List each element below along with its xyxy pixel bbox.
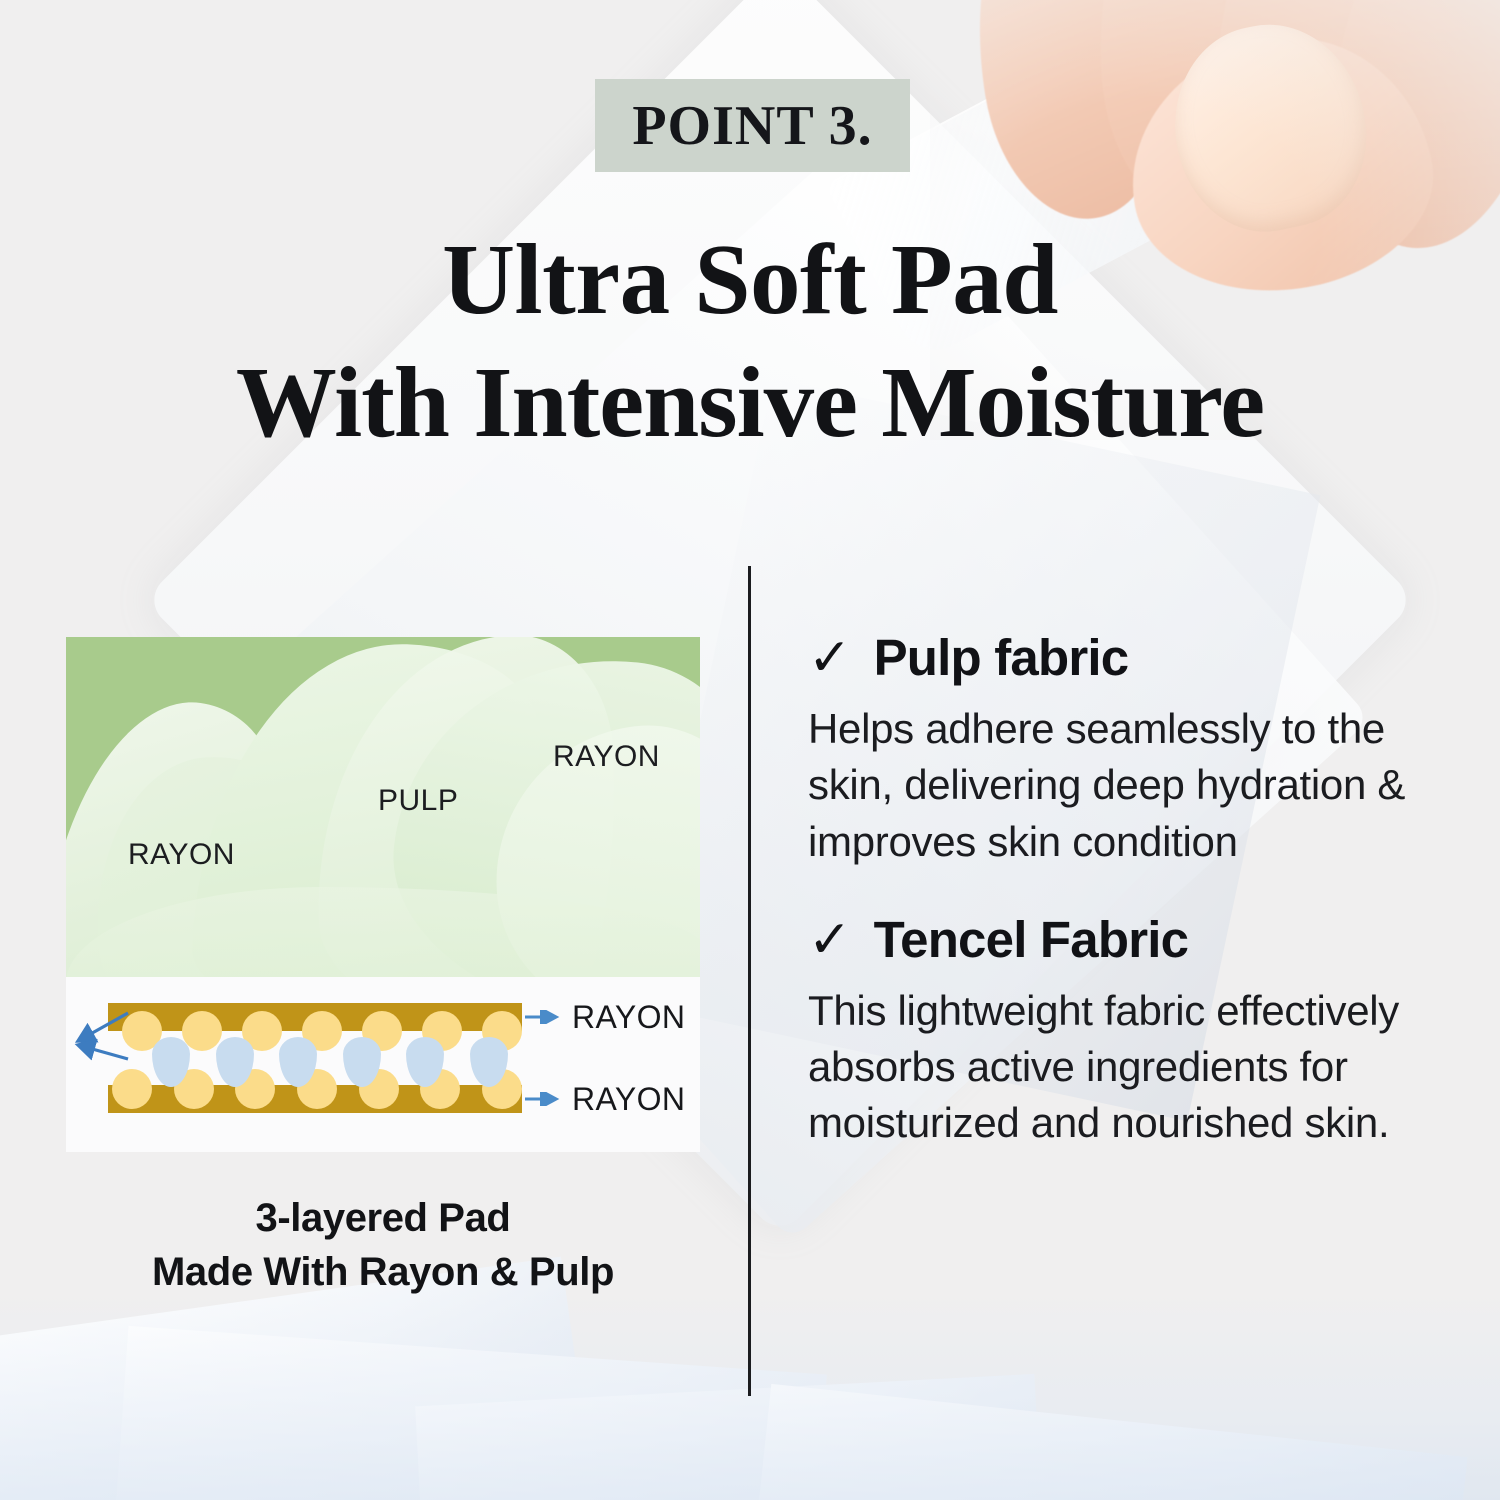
thumbnail <box>1156 7 1384 247</box>
diagram-caption: 3-layered Pad Made With Rayon & Pulp <box>66 1192 700 1299</box>
fabric-layers-illustration: RAYON PULP RAYON <box>66 637 700 977</box>
point-badge-label: POINT 3. <box>632 94 872 158</box>
pulp-core-particles <box>108 1003 522 1113</box>
feature-tencel-fabric-header: ✓ Tencel Fabric <box>808 910 1428 969</box>
page-title: Ultra Soft Pad With Intensive Moisture <box>0 218 1500 464</box>
moisture-release-arrows <box>66 997 136 1077</box>
feature-pulp-fabric-header: ✓ Pulp fabric <box>808 628 1428 687</box>
point-badge: POINT 3. <box>595 79 910 172</box>
feature-pulp-fabric-description: Helps adhere seamlessly to the skin, del… <box>808 701 1422 870</box>
infographic-page: POINT 3. Ultra Soft Pad With Intensive M… <box>0 0 1500 1500</box>
diagram-caption-line-2: Made With Rayon & Pulp <box>66 1246 700 1300</box>
diagram-caption-line-1: 3-layered Pad <box>66 1192 700 1246</box>
pad-cross-section-illustration: RAYON RAYON <box>66 977 700 1152</box>
feature-pulp-fabric-title: Pulp fabric <box>874 628 1129 687</box>
feature-tencel-fabric-title: Tencel Fabric <box>874 910 1189 969</box>
checkmark-icon: ✓ <box>808 632 852 684</box>
fabric-label-rayon-left: RAYON <box>128 838 235 872</box>
fabric-diagram-column: RAYON PULP RAYON <box>66 637 700 1152</box>
feature-tencel-fabric-description: This lightweight fabric effectively abso… <box>808 983 1422 1152</box>
page-title-line-2: With Intensive Moisture <box>0 341 1500 464</box>
fabric-label-rayon-right: RAYON <box>553 740 660 774</box>
pulp-particle-top <box>182 1011 222 1051</box>
page-title-line-1: Ultra Soft Pad <box>0 218 1500 341</box>
column-divider <box>748 566 751 1396</box>
finger-2 <box>1091 0 1310 225</box>
cross-section-label-top: RAYON <box>572 999 685 1036</box>
checkmark-icon: ✓ <box>808 914 852 966</box>
finger-1 <box>955 0 1184 232</box>
background-blue-pad-4 <box>753 1384 1468 1500</box>
rayon-top-pointer-arrow <box>524 1010 566 1024</box>
fabric-label-pulp: PULP <box>378 784 458 818</box>
cross-section-label-bottom: RAYON <box>572 1081 685 1118</box>
feature-pulp-fabric: ✓ Pulp fabric Helps adhere seamlessly to… <box>808 628 1428 870</box>
rayon-bottom-pointer-arrow <box>524 1092 566 1106</box>
features-column: ✓ Pulp fabric Helps adhere seamlessly to… <box>808 628 1428 1192</box>
feature-tencel-fabric: ✓ Tencel Fabric This lightweight fabric … <box>808 910 1428 1152</box>
